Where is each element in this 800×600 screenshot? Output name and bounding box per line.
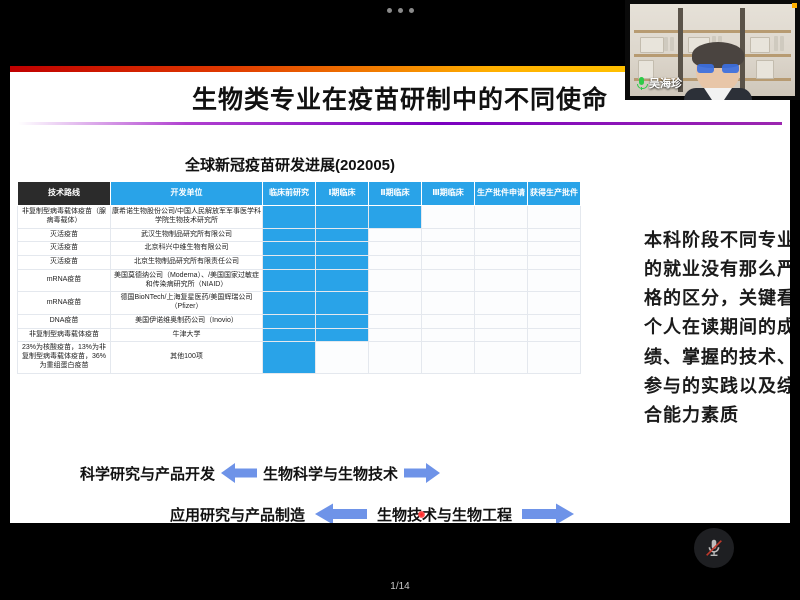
arrow-row-2-center-label: 生物技术与生物工程 [377, 504, 512, 524]
table-body: 非复制型病毒载体疫苗（腺病毒载体）康希诺生物股份公司/中国人民解放军军事医学科学… [18, 206, 581, 374]
title-underline [18, 122, 782, 125]
table-cell-org: 牛津大学 [111, 328, 263, 342]
glasses-lens-left [697, 64, 714, 73]
table-cell-org: 德国BioNTech/上海复星医药/美国辉瑞公司（Pfizer） [111, 292, 263, 315]
three-dots-icon-dot-1 [387, 8, 392, 13]
table-cell-org: 康希诺生物股份公司/中国人民解放军军事医学科学院生物技术研究所 [111, 206, 263, 229]
table-cell-phase-empty [475, 256, 528, 270]
table-cell-phase-filled [369, 206, 422, 229]
table-cell-phase-empty [369, 269, 422, 292]
table-cell-route: DNA疫苗 [18, 314, 111, 328]
table-cell-phase-filled [263, 314, 316, 328]
table-row: 非复制型病毒载体疫苗牛津大学 [18, 328, 581, 342]
table-cell-phase-empty [528, 269, 581, 292]
table-cell-route: 灭活疫苗 [18, 256, 111, 270]
table-header-row: 技术路线 开发单位 临床前研究 Ⅰ期临床 Ⅱ期临床 Ⅲ期临床 生产批件申请 获得… [18, 182, 581, 206]
table-cell-route: 非复制型病毒载体疫苗（腺病毒载体） [18, 206, 111, 229]
table-cell-phase-empty [528, 256, 581, 270]
table-cell-phase-filled [263, 292, 316, 315]
table-cell-phase-filled [316, 328, 369, 342]
table-cell-phase-empty [369, 242, 422, 256]
three-dots-icon-dot-2 [398, 8, 403, 13]
mute-toggle-button[interactable] [694, 528, 734, 568]
table-cell-org: 其他100项 [111, 342, 263, 373]
table-cell-org: 美国莫德纳公司（Moderna）、/美国国家过敏症和传染病研究所（NIAID） [111, 269, 263, 292]
table-cell-route: 23%为核酸疫苗，13%为非复制型病毒载体疫苗，36%为重组蛋白疫苗 [18, 342, 111, 373]
table-cell-phase-empty [475, 206, 528, 229]
table-cell-phase-filled [316, 314, 369, 328]
table-row: 23%为核酸疫苗，13%为非复制型病毒载体疫苗，36%为重组蛋白疫苗其他100项 [18, 342, 581, 373]
page-indicator: 1/14 [0, 581, 800, 592]
table-cell-phase-empty [369, 314, 422, 328]
table-cell-phase-empty [475, 269, 528, 292]
table-cell-phase-filled [263, 269, 316, 292]
arrow-left-icon [315, 502, 367, 523]
table-cell-phase-empty [422, 314, 475, 328]
table-cell-phase-empty [528, 228, 581, 242]
table-cell-phase-empty [369, 328, 422, 342]
table-row: 灭活疫苗北京生物制品研究所有限责任公司 [18, 256, 581, 270]
table-cell-phase-empty [422, 269, 475, 292]
table-cell-phase-empty [528, 314, 581, 328]
meeting-screen: 生物类专业在疫苗研制中的不同使命 全球新冠疫苗研发进展(202005) 技术路线… [0, 0, 800, 600]
participant-figure [682, 44, 754, 100]
shelf-line [634, 30, 791, 33]
book [670, 37, 674, 51]
participant-name-badge: 吴海珍 [635, 74, 686, 92]
table-cell-phase-empty [422, 256, 475, 270]
table-cell-phase-empty [475, 314, 528, 328]
book [780, 36, 784, 51]
video-frame: 吴海珍 [630, 4, 795, 96]
table-cell-phase-empty [475, 242, 528, 256]
table-cell-route: 灭活疫苗 [18, 228, 111, 242]
table-cell-phase-empty [369, 342, 422, 373]
table-cell-phase-filled [263, 206, 316, 229]
table-cell-phase-empty [422, 328, 475, 342]
table-row: mRNA疫苗德国BioNTech/上海复星医药/美国辉瑞公司（Pfizer） [18, 292, 581, 315]
shelf-box [756, 60, 774, 79]
table-cell-phase-empty [369, 228, 422, 242]
table-cell-phase-empty [475, 292, 528, 315]
table-cell-phase-filled [316, 206, 369, 229]
table-cell-phase-empty [528, 206, 581, 229]
table-cell-org: 北京生物制品研究所有限责任公司 [111, 256, 263, 270]
table-header-cell: Ⅲ期临床 [422, 182, 475, 206]
participant-name: 吴海珍 [649, 75, 682, 91]
table-cell-phase-filled [316, 228, 369, 242]
shelf-box [640, 37, 664, 53]
arrow-right-icon [404, 462, 440, 484]
right-text-panel: 本科阶段不同专业的就业没有那么严格的区分，关键看个人在读期间的成绩、掌握的技术、… [644, 226, 790, 430]
table-cell-phase-empty [369, 256, 422, 270]
table-header-cell: 获得生产批件 [528, 182, 581, 206]
table-cell-phase-filled [316, 269, 369, 292]
video-tile[interactable]: 吴海珍 [625, 0, 800, 100]
table-cell-phase-empty [475, 342, 528, 373]
table-cell-org: 美国伊诺维奥制药公司（Inovio） [111, 314, 263, 328]
glasses-lens-right [722, 64, 739, 73]
table-cell-phase-filled [316, 292, 369, 315]
table-cell-route: 灭活疫苗 [18, 242, 111, 256]
mic-muted-icon [703, 537, 725, 559]
table-header-cell: 临床前研究 [263, 182, 316, 206]
arrow-row-1-center-label: 生物科学与生物技术 [263, 463, 398, 484]
table-cell-phase-empty [422, 292, 475, 315]
table-header-cell: 生产批件申请 [475, 182, 528, 206]
table-cell-phase-filled [316, 256, 369, 270]
table-cell-phase-empty [422, 206, 475, 229]
table-title: 全球新冠疫苗研发进展(202005) [10, 154, 570, 175]
table-cell-org: 武汉生物制品研究所有限公司 [111, 228, 263, 242]
table-cell-phase-empty [316, 342, 369, 373]
book [664, 37, 668, 51]
table-cell-phase-empty [528, 342, 581, 373]
table-cell-phase-empty [528, 328, 581, 342]
table-cell-phase-filled [316, 242, 369, 256]
table-cell-phase-empty [475, 228, 528, 242]
book [774, 36, 778, 51]
table-header-cell: Ⅰ期临床 [316, 182, 369, 206]
table-row: 灭活疫苗北京科兴中维生物有限公司 [18, 242, 581, 256]
slide-canvas[interactable]: 生物类专业在疫苗研制中的不同使命 全球新冠疫苗研发进展(202005) 技术路线… [10, 66, 790, 523]
arrow-row-2-left-label: 应用研究与产品制造 [170, 504, 305, 524]
table-cell-route: mRNA疫苗 [18, 292, 111, 315]
table-header-cell: Ⅱ期临床 [369, 182, 422, 206]
table-cell-phase-filled [263, 256, 316, 270]
arrow-right-icon [522, 502, 574, 523]
arrow-row-1-left-label: 科学研究与产品开发 [80, 463, 215, 484]
arrow-row-application: 应用研究与产品制造 生物技术与生物工程 [170, 502, 574, 523]
table-cell-phase-empty [528, 242, 581, 256]
table-cell-phase-empty [422, 242, 475, 256]
table-cell-phase-empty [528, 292, 581, 315]
table-cell-route: mRNA疫苗 [18, 269, 111, 292]
table-cell-phase-empty [369, 292, 422, 315]
microphone-on-icon [637, 77, 646, 90]
table-cell-phase-filled [263, 328, 316, 342]
table-row: DNA疫苗美国伊诺维奥制药公司（Inovio） [18, 314, 581, 328]
laser-pointer-dot [418, 511, 425, 518]
table-cell-phase-empty [475, 328, 528, 342]
glasses-icon [697, 64, 739, 73]
table-cell-phase-empty [422, 228, 475, 242]
table-header-cell: 技术路线 [18, 182, 111, 206]
table-cell-phase-filled [263, 228, 316, 242]
vaccine-progress-table: 技术路线 开发单位 临床前研究 Ⅰ期临床 Ⅱ期临床 Ⅲ期临床 生产批件申请 获得… [17, 181, 581, 374]
table-row: 灭活疫苗武汉生物制品研究所有限公司 [18, 228, 581, 242]
arrow-row-science: 科学研究与产品开发 生物科学与生物技术 [80, 462, 440, 484]
table-cell-phase-filled [263, 242, 316, 256]
video-corner-marker [792, 3, 797, 8]
table-cell-route: 非复制型病毒载体疫苗 [18, 328, 111, 342]
table-row: 非复制型病毒载体疫苗（腺病毒载体）康希诺生物股份公司/中国人民解放军军事医学科学… [18, 206, 581, 229]
arrow-left-icon [221, 462, 257, 484]
table-cell-org: 北京科兴中维生物有限公司 [111, 242, 263, 256]
table-row: mRNA疫苗美国莫德纳公司（Moderna）、/美国国家过敏症和传染病研究所（N… [18, 269, 581, 292]
table-header-cell: 开发单位 [111, 182, 263, 206]
three-dots-icon-dot-3 [409, 8, 414, 13]
table-cell-phase-empty [422, 342, 475, 373]
table-cell-phase-filled [263, 342, 316, 373]
